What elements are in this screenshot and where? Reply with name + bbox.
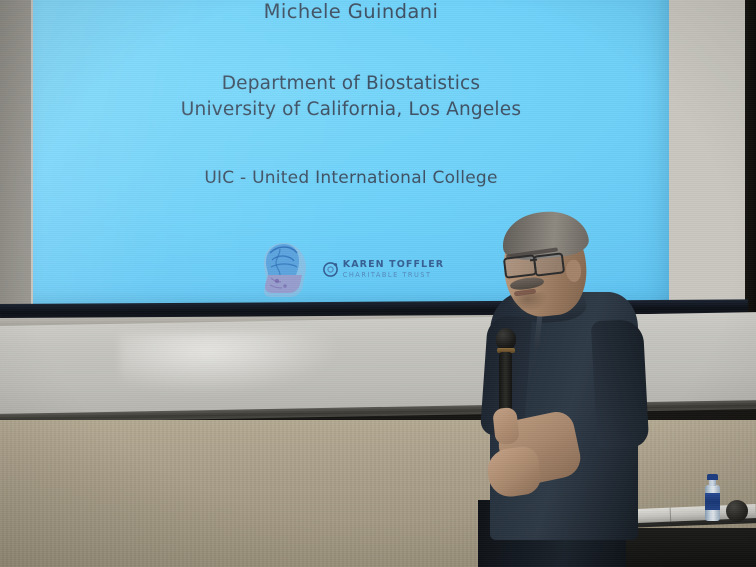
slide-logo-row: KAREN TOFFLER CHARITABLE TRUST (258, 240, 444, 300)
bottle-neck (709, 480, 716, 486)
microphone-body (499, 352, 512, 412)
speaker-right-sleeve (591, 319, 650, 450)
slide-department: Department of Biostatistics (181, 71, 521, 97)
trust-logo-subtitle: CHARITABLE TRUST (343, 272, 444, 279)
water-bottle (704, 474, 721, 521)
slide-affiliation: Department of Biostatistics University o… (181, 71, 521, 124)
slide-presenter-name: Michele Guindani (264, 0, 439, 23)
bottle-cap (707, 474, 718, 480)
slide-institution: University of California, Los Angeles (181, 97, 521, 123)
brain-head-logo-icon (258, 240, 310, 300)
glasses-left-lens (503, 254, 537, 279)
whiteboard-smudge (119, 330, 340, 396)
bottle-label (705, 493, 720, 510)
speaker-hand-gripping-mic (492, 407, 520, 445)
trust-logo-text: KAREN TOFFLER CHARITABLE TRUST (343, 260, 444, 278)
microphone-head (496, 328, 516, 350)
screenshot-root: Michele Guindani Department of Biostatis… (0, 0, 756, 567)
speaker (466, 220, 656, 540)
wall-left-strip (0, 0, 34, 320)
slide-venue: UIC - United International College (204, 168, 497, 188)
trust-logo-title: KAREN TOFFLER (343, 260, 444, 270)
trust-circular-mark-icon (322, 261, 339, 278)
dark-round-object (726, 500, 748, 522)
glasses-right-lens (533, 252, 565, 276)
karen-toffler-trust-logo: KAREN TOFFLER CHARITABLE TRUST (322, 260, 444, 278)
